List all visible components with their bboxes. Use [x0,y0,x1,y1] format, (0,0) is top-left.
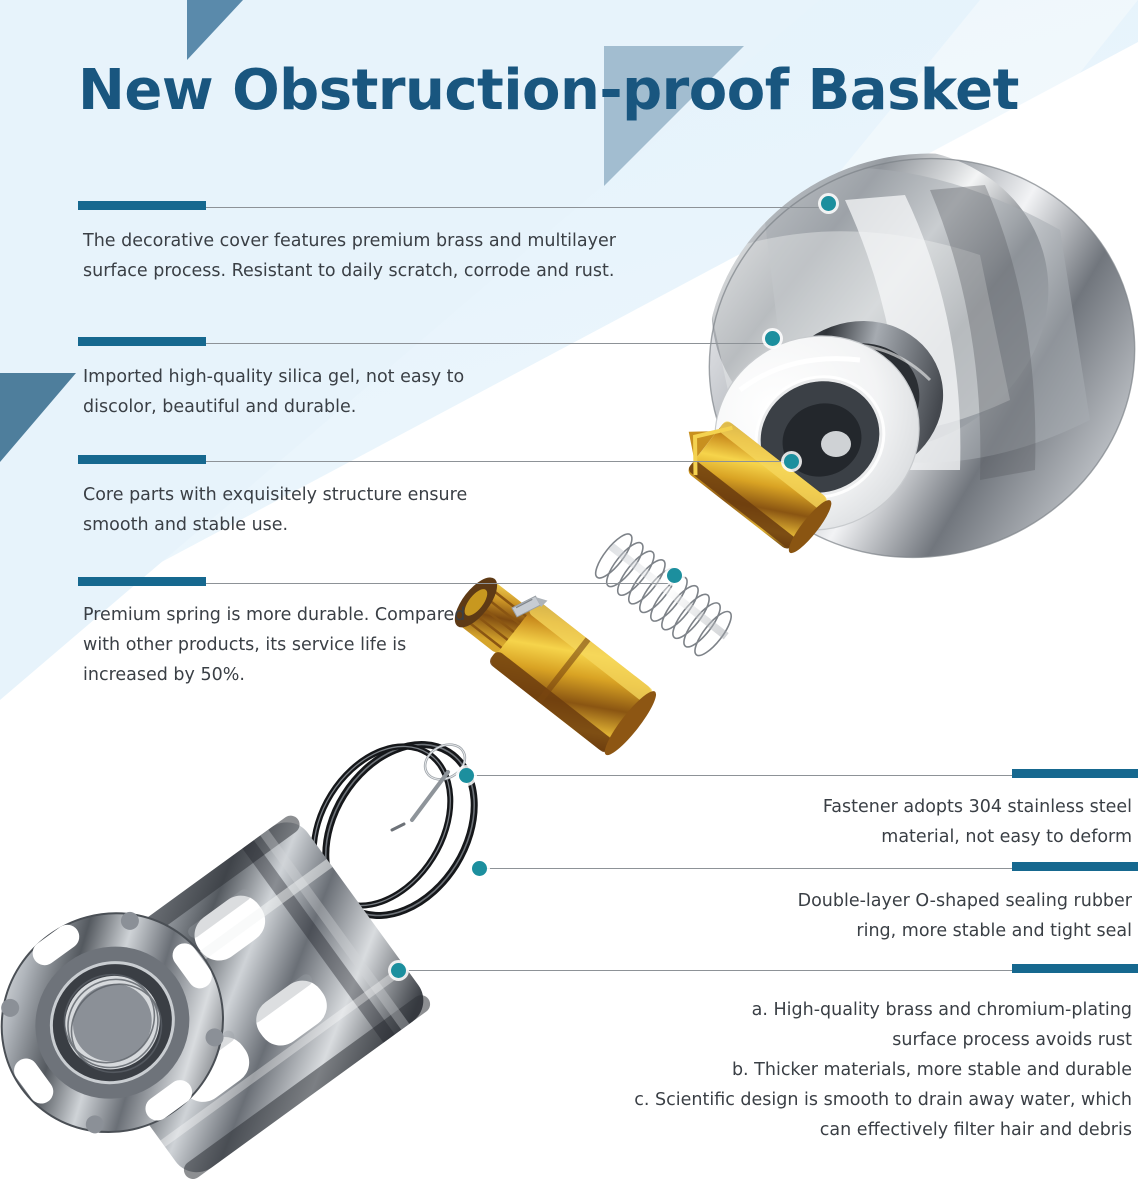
page-title: New Obstruction-proof Basket [78,58,1019,123]
callout-bar [78,577,206,586]
callout-bar [78,201,206,210]
callout-text: Core parts with exquisitely structure en… [83,480,643,540]
callout-bar [1012,769,1138,778]
callout-bar [78,337,206,346]
callout-dot-basket-body [391,963,406,978]
callout-dot-premium-spring [667,568,682,583]
callout-text: a. High-quality brass and chromium-plati… [560,995,1132,1145]
callout-text: The decorative cover features premium br… [83,226,673,286]
callout-bar [78,455,206,464]
callout-bar [1012,964,1138,973]
callout-text: Imported high-quality silica gel, not ea… [83,362,643,422]
callout-dot-decorative-cover [821,196,836,211]
callout-text: Fastener adopts 304 stainless steel mate… [660,792,1132,852]
callout-dot-sealing-ring [472,861,487,876]
callout-dot-core-parts [784,454,799,469]
callout-text: Premium spring is more durable. Compared… [83,600,553,690]
callout-dot-silica-gel [765,331,780,346]
callout-text: Double-layer O-shaped sealing rubber rin… [640,886,1132,946]
callout-dot-fastener [459,768,474,783]
callout-bar [1012,862,1138,871]
